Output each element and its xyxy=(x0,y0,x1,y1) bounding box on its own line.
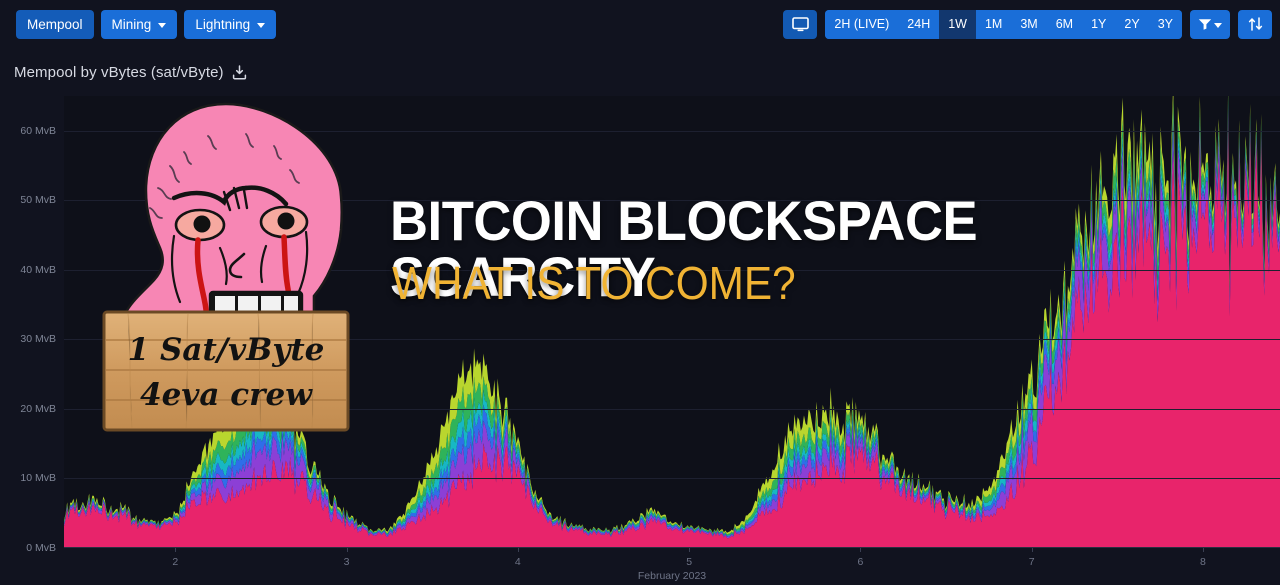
x-axis-label: 4 xyxy=(515,556,521,568)
y-axis-label: 20 MvB xyxy=(20,403,56,415)
range-button-24h[interactable]: 24H xyxy=(898,10,939,39)
x-axis-tick xyxy=(1032,548,1033,552)
x-axis-label: 3 xyxy=(344,556,350,568)
chevron-down-icon xyxy=(1214,23,1222,28)
nav-button-mining[interactable]: Mining xyxy=(101,10,178,39)
display-mode-button[interactable] xyxy=(783,10,817,39)
range-button-2h-live[interactable]: 2H (LIVE) xyxy=(825,10,898,39)
range-button-6m[interactable]: 6M xyxy=(1047,10,1082,39)
x-axis-tick xyxy=(1203,548,1204,552)
chevron-down-icon xyxy=(158,23,166,28)
gridline xyxy=(64,478,1280,479)
chart-title-text: Mempool by vBytes (sat/vByte) xyxy=(14,64,224,81)
y-axis-label: 60 MvB xyxy=(20,125,56,137)
range-button-1w[interactable]: 1W xyxy=(939,10,976,39)
range-button-1m[interactable]: 1M xyxy=(976,10,1011,39)
overlay-subheadline: WHAT IS TO COME? xyxy=(392,260,796,306)
top-toolbar: Mempool Mining Lightning 2H (LIVE) 24H xyxy=(0,0,1280,48)
y-axis-label: 40 MvB xyxy=(20,264,56,276)
filter-button[interactable] xyxy=(1190,10,1230,39)
y-axis-label: 10 MvB xyxy=(20,472,56,484)
x-axis-label: 5 xyxy=(686,556,692,568)
x-axis-label: 8 xyxy=(1200,556,1206,568)
chart-controls: 2H (LIVE) 24H 1W 1M 3M 6M 1Y 2Y 3Y xyxy=(783,10,1272,39)
range-button-3m[interactable]: 3M xyxy=(1011,10,1046,39)
x-axis-line xyxy=(64,547,1280,548)
y-axis-label: 0 MvB xyxy=(26,542,56,554)
chevron-down-icon xyxy=(257,23,265,28)
y-axis-label: 30 MvB xyxy=(20,333,56,345)
sort-button[interactable] xyxy=(1238,10,1272,39)
funnel-icon xyxy=(1198,18,1212,30)
x-axis-label: 2 xyxy=(172,556,178,568)
x-axis-tick xyxy=(518,548,519,552)
range-button-1y[interactable]: 1Y xyxy=(1082,10,1115,39)
nav-label-lightning: Lightning xyxy=(195,16,250,33)
mempool-dashboard: Mempool Mining Lightning 2H (LIVE) 24H xyxy=(0,0,1280,585)
x-axis-label: 7 xyxy=(1029,556,1035,568)
range-button-3y[interactable]: 3Y xyxy=(1149,10,1182,39)
nav-label-mining: Mining xyxy=(112,16,152,33)
nav-label-mempool: Mempool xyxy=(27,16,83,33)
primary-nav: Mempool Mining Lightning xyxy=(8,10,276,39)
time-range-selector[interactable]: 2H (LIVE) 24H 1W 1M 3M 6M 1Y 2Y 3Y xyxy=(825,10,1182,39)
x-axis-label: 6 xyxy=(857,556,863,568)
chart-header: Mempool by vBytes (sat/vByte) xyxy=(14,64,247,81)
nav-button-mempool[interactable]: Mempool xyxy=(16,10,94,39)
x-axis-title: February 2023 xyxy=(638,570,706,582)
nav-button-lightning[interactable]: Lightning xyxy=(184,10,276,39)
range-button-2y[interactable]: 2Y xyxy=(1115,10,1148,39)
download-icon[interactable] xyxy=(232,65,247,80)
y-axis-label: 50 MvB xyxy=(20,194,56,206)
x-axis-tick xyxy=(689,548,690,552)
sort-arrows-icon xyxy=(1248,17,1263,31)
x-axis-tick xyxy=(860,548,861,552)
x-axis-tick xyxy=(347,548,348,552)
monitor-icon xyxy=(792,17,809,32)
x-axis-tick xyxy=(175,548,176,552)
sign-line-1: 1 Sat/vByte xyxy=(98,332,354,368)
sign-line-2: 4eva crew xyxy=(98,377,354,413)
